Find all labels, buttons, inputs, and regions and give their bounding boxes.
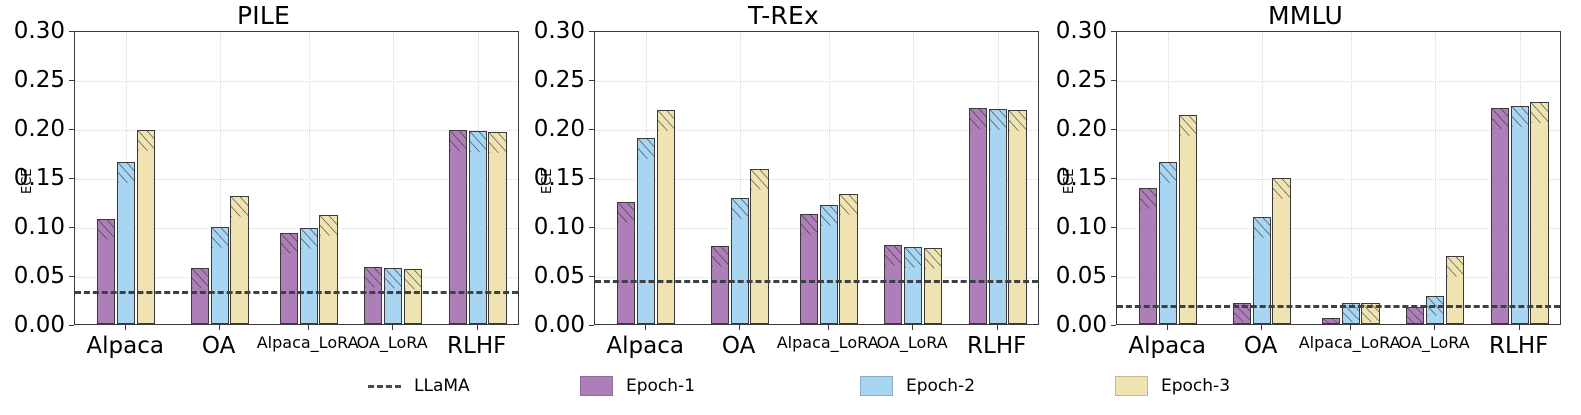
bar-alpaca-epoch-3 [657, 110, 675, 324]
x-tick-label-alpaca_lora: Alpaca_LoRA [777, 333, 879, 352]
x-tick-mark [219, 325, 220, 330]
llama-reference-line [1117, 305, 1560, 308]
bar-oa_lora-epoch-2 [1426, 296, 1444, 324]
llama-reference-line [75, 291, 518, 294]
y-tick-mark [1111, 129, 1116, 130]
y-tick-label: 0.20 [1037, 118, 1107, 141]
bar-rlhf-epoch-3 [1530, 102, 1548, 324]
x-tick-label-rlhf: RLHF [447, 333, 506, 359]
bar-oa_lora-epoch-3 [404, 269, 422, 324]
bar-rlhf-epoch-1 [969, 108, 987, 324]
bar-rlhf-epoch-3 [1008, 110, 1026, 324]
figure-root: PILEECE0.000.050.100.150.200.250.30Alpac… [0, 0, 1581, 415]
panel-title: MMLU [1042, 2, 1569, 30]
llama-reference-line [595, 280, 1038, 283]
bar-alpaca-epoch-2 [1159, 162, 1177, 324]
x-tick-label-oa: OA [202, 333, 235, 359]
x-tick-mark [912, 325, 913, 330]
bar-oa-epoch-3 [230, 196, 248, 324]
bar-rlhf-epoch-3 [488, 132, 506, 324]
y-tick-mark [69, 129, 74, 130]
y-tick-mark [589, 325, 594, 326]
bar-oa_lora-epoch-1 [364, 267, 382, 324]
chart-panel-t-rex: T-RExECE0.000.050.100.150.200.250.30Alpa… [520, 0, 1047, 350]
bar-rlhf-epoch-2 [469, 131, 487, 324]
y-tick-mark [589, 227, 594, 228]
plot-area [74, 31, 519, 325]
x-tick-label-alpaca: Alpaca [606, 333, 684, 359]
y-tick-mark [69, 276, 74, 277]
y-tick-mark [1111, 325, 1116, 326]
panel-title: T-REx [520, 2, 1047, 30]
plot-inner [595, 32, 1038, 324]
chart-panel-mmlu: MMLUECE0.000.050.100.150.200.250.30Alpac… [1042, 0, 1569, 350]
plot-inner [75, 32, 518, 324]
x-tick-mark [1261, 325, 1262, 330]
x-tick-mark [1434, 325, 1435, 330]
x-tick-mark [125, 325, 126, 330]
bar-alpaca-epoch-3 [1179, 115, 1197, 324]
x-tick-mark [1167, 325, 1168, 330]
legend-swatch [860, 376, 893, 396]
y-tick-label: 0.00 [0, 314, 65, 337]
y-tick-mark [1111, 178, 1116, 179]
bar-alpaca-epoch-1 [97, 219, 115, 324]
bar-alpaca_lora-epoch-1 [800, 214, 818, 324]
bar-alpaca_lora-epoch-3 [839, 194, 857, 324]
bar-oa-epoch-1 [191, 268, 209, 324]
y-tick-label: 0.10 [1037, 216, 1107, 239]
bar-oa_lora-epoch-3 [1446, 256, 1464, 324]
legend-entry-epoch-3: Epoch-3 [1115, 374, 1230, 398]
x-tick-mark [997, 325, 998, 330]
gridline-vertical [1351, 32, 1352, 324]
y-tick-label: 0.05 [0, 265, 65, 288]
x-tick-mark [828, 325, 829, 330]
y-tick-label: 0.15 [515, 167, 585, 190]
bar-rlhf-epoch-1 [1491, 108, 1509, 324]
bar-alpaca_lora-epoch-2 [820, 205, 838, 324]
panel-title: PILE [0, 2, 527, 30]
x-tick-label-oa: OA [722, 333, 755, 359]
x-tick-mark [739, 325, 740, 330]
bar-alpaca-epoch-1 [1139, 188, 1157, 324]
x-tick-mark [645, 325, 646, 330]
bar-oa_lora-epoch-2 [384, 268, 402, 324]
y-tick-label: 0.25 [515, 69, 585, 92]
bar-oa_lora-epoch-1 [1406, 307, 1424, 324]
x-tick-label-rlhf: RLHF [1489, 333, 1548, 359]
bar-alpaca_lora-epoch-1 [280, 233, 298, 324]
plot-area [1116, 31, 1561, 325]
y-tick-label: 0.20 [0, 118, 65, 141]
bar-alpaca_lora-epoch-1 [1322, 318, 1340, 324]
x-tick-label-oa_lora: OA_LoRA [877, 333, 948, 352]
y-tick-label: 0.30 [1037, 20, 1107, 43]
gridline-horizontal [1117, 81, 1560, 82]
bar-oa-epoch-2 [731, 198, 749, 324]
bar-alpaca-epoch-2 [117, 162, 135, 324]
y-tick-label: 0.10 [0, 216, 65, 239]
x-tick-label-alpaca_lora: Alpaca_LoRA [1299, 333, 1401, 352]
gridline-horizontal [75, 81, 518, 82]
bar-alpaca-epoch-2 [637, 138, 655, 324]
y-tick-label: 0.00 [515, 314, 585, 337]
bar-alpaca_lora-epoch-2 [300, 228, 318, 324]
bar-alpaca-epoch-1 [617, 202, 635, 324]
legend-entry-epoch-2: Epoch-2 [860, 374, 975, 398]
x-tick-label-oa: OA [1244, 333, 1277, 359]
legend-label: Epoch-1 [626, 376, 695, 396]
y-tick-label: 0.15 [1037, 167, 1107, 190]
bar-oa-epoch-3 [750, 169, 768, 324]
y-tick-label: 0.20 [515, 118, 585, 141]
x-tick-mark [477, 325, 478, 330]
y-tick-mark [69, 31, 74, 32]
y-tick-mark [1111, 276, 1116, 277]
y-tick-label: 0.00 [1037, 314, 1107, 337]
y-tick-label: 0.10 [515, 216, 585, 239]
y-tick-mark [69, 178, 74, 179]
x-tick-mark [308, 325, 309, 330]
y-tick-label: 0.15 [0, 167, 65, 190]
x-tick-label-alpaca: Alpaca [86, 333, 164, 359]
legend-label: LLaMA [414, 376, 470, 396]
bar-oa-epoch-2 [211, 227, 229, 324]
y-tick-label: 0.05 [515, 265, 585, 288]
legend-swatch [580, 376, 613, 396]
y-tick-mark [589, 80, 594, 81]
x-tick-mark [392, 325, 393, 330]
x-tick-mark [1519, 325, 1520, 330]
legend-swatch [1115, 376, 1148, 396]
y-tick-label: 0.30 [515, 20, 585, 43]
legend-label: Epoch-2 [906, 376, 975, 396]
y-tick-label: 0.25 [1037, 69, 1107, 92]
y-tick-label: 0.25 [0, 69, 65, 92]
y-tick-label: 0.05 [1037, 265, 1107, 288]
legend-entry-epoch-1: Epoch-1 [580, 374, 695, 398]
y-tick-label: 0.30 [0, 20, 65, 43]
bar-oa_lora-epoch-2 [904, 247, 922, 324]
gridline-vertical [1435, 32, 1436, 324]
y-tick-mark [69, 80, 74, 81]
x-tick-label-alpaca: Alpaca [1128, 333, 1206, 359]
y-tick-mark [589, 178, 594, 179]
legend-entry-llama: LLaMA [368, 374, 470, 398]
x-tick-label-oa_lora: OA_LoRA [357, 333, 428, 352]
y-tick-mark [589, 276, 594, 277]
gridline-horizontal [595, 81, 1038, 82]
bar-alpaca_lora-epoch-3 [319, 215, 337, 324]
bar-rlhf-epoch-2 [989, 109, 1007, 324]
bar-rlhf-epoch-2 [1511, 106, 1529, 324]
y-tick-mark [1111, 31, 1116, 32]
y-tick-mark [69, 325, 74, 326]
bar-alpaca-epoch-3 [137, 130, 155, 324]
bar-oa-epoch-3 [1272, 178, 1290, 324]
x-tick-label-alpaca_lora: Alpaca_LoRA [257, 333, 359, 352]
x-tick-label-oa_lora: OA_LoRA [1399, 333, 1470, 352]
bar-rlhf-epoch-1 [449, 130, 467, 324]
bar-oa_lora-epoch-3 [924, 248, 942, 324]
legend-label: Epoch-3 [1161, 376, 1230, 396]
y-tick-mark [589, 31, 594, 32]
x-tick-mark [1350, 325, 1351, 330]
y-tick-mark [1111, 80, 1116, 81]
y-tick-mark [69, 227, 74, 228]
y-tick-mark [1111, 227, 1116, 228]
plot-inner [1117, 32, 1560, 324]
bar-oa-epoch-1 [711, 246, 729, 324]
x-tick-label-rlhf: RLHF [967, 333, 1026, 359]
bar-oa_lora-epoch-1 [884, 245, 902, 324]
legend: LLaMAEpoch-1Epoch-2Epoch-3 [0, 358, 1581, 415]
plot-area [594, 31, 1039, 325]
chart-panel-pile: PILEECE0.000.050.100.150.200.250.30Alpac… [0, 0, 527, 350]
legend-dashed-line-marker [368, 376, 401, 396]
y-tick-mark [589, 129, 594, 130]
